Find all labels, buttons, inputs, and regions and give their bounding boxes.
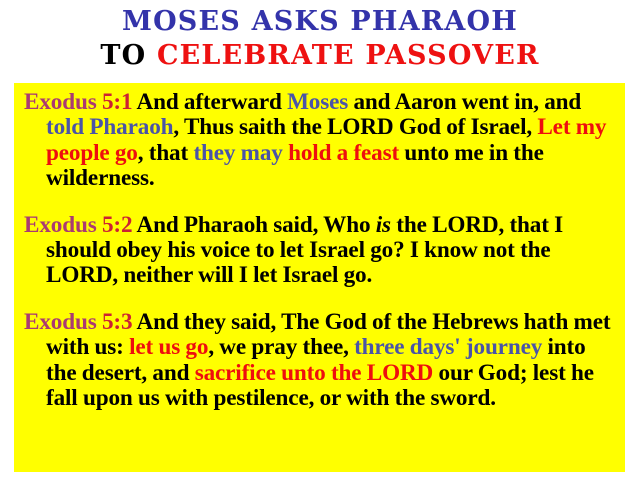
verse-block: Exodus 5:1 And afterward Moses and Aaron… bbox=[24, 90, 617, 192]
verse-reference-number: 5:1 bbox=[102, 89, 132, 115]
verse-reference-book: Exodus bbox=[24, 212, 97, 238]
verse-text-run: is bbox=[376, 212, 391, 238]
verse-text-run: , that bbox=[138, 140, 194, 166]
verse-text-run: they may bbox=[193, 140, 288, 166]
verse-reference-number: 5:2 bbox=[102, 212, 132, 238]
slide-title: MOSES ASKS PHARAOH TO CELEBRATE PASSOVER bbox=[0, 0, 640, 83]
verse-text-run: three days' journey bbox=[354, 334, 542, 360]
verse-text-run: And Pharaoh said, Who bbox=[132, 212, 375, 238]
title-line-2: TO CELEBRATE PASSOVER bbox=[0, 35, 640, 69]
verse-text-run: sacrifice unto the LORD bbox=[195, 360, 433, 386]
scripture-panel: Exodus 5:1 And afterward Moses and Aaron… bbox=[14, 83, 625, 472]
verse-reference-book: Exodus bbox=[24, 309, 97, 335]
title-line-2-prefix: TO bbox=[100, 40, 157, 71]
verse-text-run: hold a feast bbox=[288, 140, 399, 166]
verse-block: Exodus 5:3 And they said, The God of the… bbox=[24, 310, 617, 412]
verse-text-run: , we pray thee, bbox=[208, 334, 354, 360]
verse-text-run: And afterward bbox=[132, 89, 287, 115]
verse-text-run: let us go bbox=[129, 334, 208, 360]
verse-text-run: told Pharaoh bbox=[46, 114, 173, 140]
verse-reference-book: Exodus bbox=[24, 89, 97, 115]
verse-reference-number: 5:3 bbox=[102, 309, 132, 335]
verse-text-run: , Thus saith the LORD God of Israel, bbox=[173, 114, 537, 140]
verse-text-run: Moses bbox=[287, 89, 348, 115]
title-line-1: MOSES ASKS PHARAOH bbox=[0, 0, 640, 35]
verse-text-run: and Aaron went in, and bbox=[348, 89, 581, 115]
title-line-1-text: MOSES ASKS PHARAOH bbox=[122, 6, 518, 37]
verse-block: Exodus 5:2 And Pharaoh said, Who is the … bbox=[24, 213, 617, 289]
title-line-2-text: CELEBRATE PASSOVER bbox=[157, 40, 540, 71]
